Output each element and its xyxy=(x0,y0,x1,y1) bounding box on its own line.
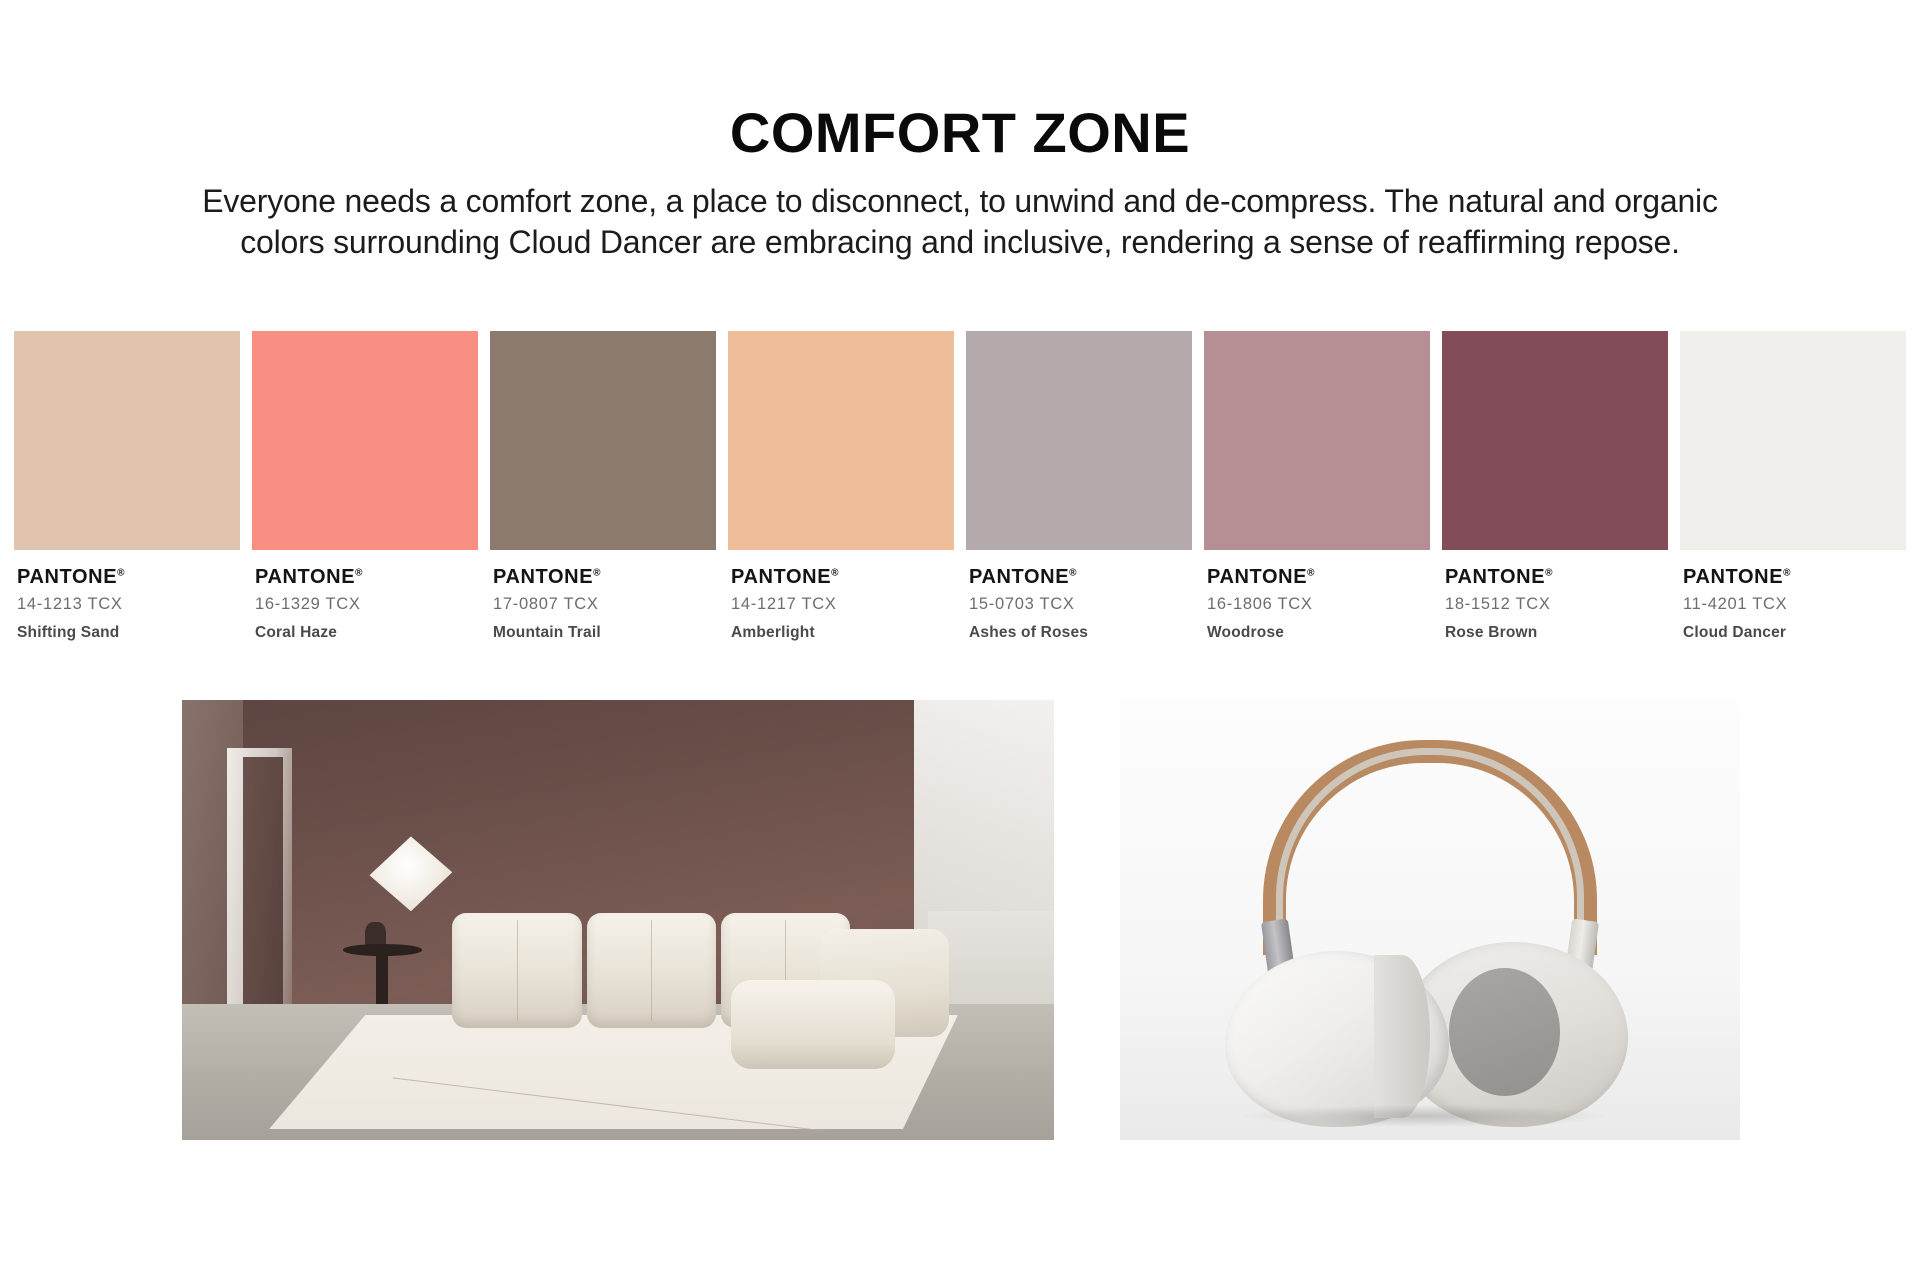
pantone-code: 16-1329 TCX xyxy=(255,596,478,613)
pantone-wordmark: PANTONE® xyxy=(969,567,1192,587)
pantone-code: 18-1512 TCX xyxy=(1445,596,1668,613)
sofa-tuft-line xyxy=(651,920,652,1021)
pantone-wordmark: PANTONE® xyxy=(1207,567,1430,587)
pantone-wordmark: PANTONE® xyxy=(1445,567,1668,587)
color-chip[interactable] xyxy=(966,331,1192,550)
swatch-meta: PANTONE® 16-1329 TCX Coral Haze xyxy=(252,550,478,640)
headphones-photo xyxy=(1120,700,1740,1140)
pantone-color-name: Coral Haze xyxy=(255,625,478,641)
pantone-code: 15-0703 TCX xyxy=(969,596,1192,613)
room-scene xyxy=(182,700,1054,1140)
registered-mark-icon: ® xyxy=(593,567,600,578)
swatch-meta: PANTONE® 14-1213 TCX Shifting Sand xyxy=(14,550,240,640)
color-chip[interactable] xyxy=(490,331,716,550)
pantone-color-name: Amberlight xyxy=(731,625,954,641)
modular-sofa xyxy=(452,913,949,1027)
pantone-brand-text: PANTONE xyxy=(1207,566,1307,588)
subtitle-line-2: colors surrounding Cloud Dancer are embr… xyxy=(78,222,1842,264)
swatch-meta: PANTONE® 11-4201 TCX Cloud Dancer xyxy=(1680,550,1906,640)
color-chip[interactable] xyxy=(252,331,478,550)
swatch-card[interactable]: PANTONE® 11-4201 TCX Cloud Dancer xyxy=(1680,331,1906,651)
subtitle-line-1: Everyone needs a comfort zone, a place t… xyxy=(78,181,1842,223)
registered-mark-icon: ® xyxy=(1545,567,1552,578)
swatch-card[interactable]: PANTONE® 16-1329 TCX Coral Haze xyxy=(252,331,478,651)
pantone-brand-text: PANTONE xyxy=(255,566,355,588)
pantone-wordmark: PANTONE® xyxy=(255,567,478,587)
pantone-color-name: Woodrose xyxy=(1207,625,1430,641)
subtitle: Everyone needs a comfort zone, a place t… xyxy=(0,181,1920,264)
pantone-code: 16-1806 TCX xyxy=(1207,596,1430,613)
swatch-card[interactable]: PANTONE® 15-0703 TCX Ashes of Roses xyxy=(966,331,1192,651)
pantone-color-name: Cloud Dancer xyxy=(1683,625,1906,641)
swatch-meta: PANTONE® 17-0807 TCX Mountain Trail xyxy=(490,550,716,640)
sofa-module-1 xyxy=(452,913,581,1027)
pantone-wordmark: PANTONE® xyxy=(1683,567,1906,587)
color-chip[interactable] xyxy=(1680,331,1906,550)
registered-mark-icon: ® xyxy=(1783,567,1790,578)
pantone-brand-text: PANTONE xyxy=(1445,566,1545,588)
earcup-left-rim xyxy=(1374,955,1430,1118)
pantone-color-name: Rose Brown xyxy=(1445,625,1668,641)
pantone-color-name: Mountain Trail xyxy=(493,625,716,641)
pantone-brand-text: PANTONE xyxy=(731,566,831,588)
swatch-card[interactable]: PANTONE® 18-1512 TCX Rose Brown xyxy=(1442,331,1668,651)
swatch-meta: PANTONE® 14-1217 TCX Amberlight xyxy=(728,550,954,640)
swatch-meta: PANTONE® 16-1806 TCX Woodrose xyxy=(1204,550,1430,640)
registered-mark-icon: ® xyxy=(1307,567,1314,578)
pantone-wordmark: PANTONE® xyxy=(17,567,240,587)
product-shadow xyxy=(1244,1105,1604,1127)
registered-mark-icon: ® xyxy=(1069,567,1076,578)
pantone-brand-text: PANTONE xyxy=(493,566,593,588)
side-table-leg xyxy=(376,953,388,1006)
pantone-wordmark: PANTONE® xyxy=(731,567,954,587)
imagery-row xyxy=(0,700,1920,1140)
pantone-code: 14-1213 TCX xyxy=(17,596,240,613)
page-title: COMFORT ZONE xyxy=(0,104,1920,163)
pantone-brand-text: PANTONE xyxy=(1683,566,1783,588)
registered-mark-icon: ® xyxy=(355,567,362,578)
doorway-opening xyxy=(243,757,283,1012)
pantone-wordmark: PANTONE® xyxy=(493,567,716,587)
swatch-card[interactable]: PANTONE® 17-0807 TCX Mountain Trail xyxy=(490,331,716,651)
color-chip[interactable] xyxy=(728,331,954,550)
swatch-meta: PANTONE® 15-0703 TCX Ashes of Roses xyxy=(966,550,1192,640)
color-chip[interactable] xyxy=(1204,331,1430,550)
earcup-right-pad xyxy=(1449,968,1561,1096)
sofa-chaise-ottoman xyxy=(731,980,895,1069)
registered-mark-icon: ® xyxy=(831,567,838,578)
swatch-card[interactable]: PANTONE® 14-1213 TCX Shifting Sand xyxy=(14,331,240,651)
swatch-card[interactable]: PANTONE® 14-1217 TCX Amberlight xyxy=(728,331,954,651)
sofa-tuft-line xyxy=(517,920,518,1021)
pantone-color-name: Ashes of Roses xyxy=(969,625,1192,641)
swatch-card[interactable]: PANTONE® 16-1806 TCX Woodrose xyxy=(1204,331,1430,651)
headphones-product xyxy=(1120,700,1740,1140)
pantone-brand-text: PANTONE xyxy=(969,566,1069,588)
swatch-meta: PANTONE® 18-1512 TCX Rose Brown xyxy=(1442,550,1668,640)
pantone-code: 11-4201 TCX xyxy=(1683,596,1906,613)
header: COMFORT ZONE Everyone needs a comfort zo… xyxy=(0,0,1920,264)
pantone-code: 14-1217 TCX xyxy=(731,596,954,613)
color-chip[interactable] xyxy=(1442,331,1668,550)
pantone-color-name: Shifting Sand xyxy=(17,625,240,641)
interior-room-photo xyxy=(182,700,1054,1140)
sofa-module-2 xyxy=(587,913,716,1027)
pantone-code: 17-0807 TCX xyxy=(493,596,716,613)
pantone-brand-text: PANTONE xyxy=(17,566,117,588)
color-palette-strip: PANTONE® 14-1213 TCX Shifting Sand PANTO… xyxy=(14,331,1906,651)
color-chip[interactable] xyxy=(14,331,240,550)
slide-canvas: COMFORT ZONE Everyone needs a comfort zo… xyxy=(0,0,1920,1280)
registered-mark-icon: ® xyxy=(117,567,124,578)
